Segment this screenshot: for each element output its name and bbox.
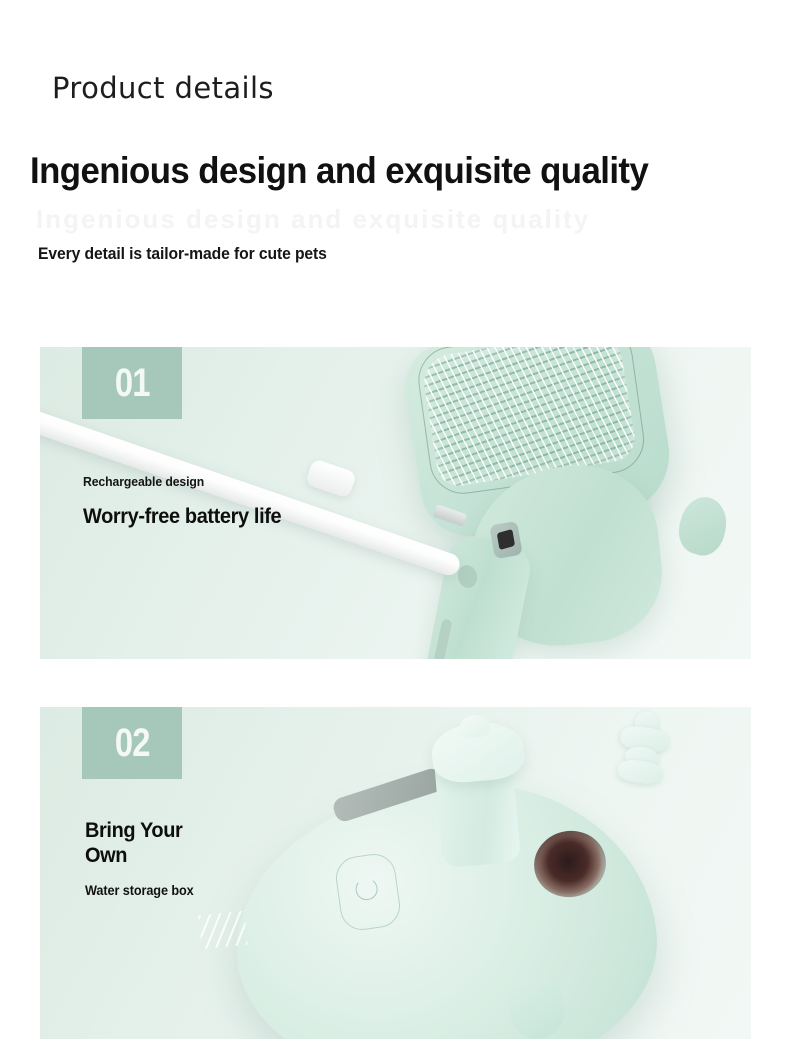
cable-connector-tip: [433, 504, 467, 527]
brush-handle-groove: [434, 618, 453, 659]
tank-vent-slot: [331, 766, 445, 823]
feature-card-01[interactable]: 01 Rechargeable design Worry-free batter…: [40, 347, 751, 659]
plug-ring-4: [617, 758, 664, 786]
rubber-stopper-plug: [606, 707, 678, 806]
card-text-block-02: Bring Your Own Water storage box: [85, 819, 201, 898]
tank-foot: [508, 977, 566, 1039]
water-tank-body: [224, 767, 669, 1039]
plug-ring-3: [624, 745, 660, 770]
usb-c-charging-port: [489, 521, 522, 559]
brush-pad-outline: [414, 347, 648, 498]
brush-side-ear: [673, 492, 733, 560]
card-number-badge-02: 02: [82, 707, 182, 779]
card-title: Worry-free battery life: [83, 505, 281, 530]
card-kicker: Rechargeable design: [83, 475, 279, 490]
power-button-icon: [333, 851, 403, 933]
card-number-badge-01: 01: [82, 347, 182, 419]
brush-indicator-hole: [456, 563, 479, 589]
brush-bristle-pad: [420, 347, 638, 489]
feature-card-02[interactable]: 02 Bring Your Own Water storage box: [40, 707, 751, 1039]
page-subtitle: Every detail is tailor-made for cute pet…: [38, 246, 327, 263]
card-number-text: 01: [115, 363, 150, 403]
tank-fill-opening: [528, 824, 612, 904]
cable-collar: [305, 458, 357, 499]
tank-side-grooves: [198, 911, 247, 950]
card-title: Bring Your Own: [85, 819, 195, 869]
plug-ring-2: [619, 724, 670, 754]
plug-ring-1: [633, 710, 660, 739]
tank-heart-cap: [430, 719, 527, 785]
tank-neck: [433, 742, 521, 868]
brush-head-shell: [398, 347, 678, 544]
card-text-block-01: Rechargeable design Worry-free battery l…: [83, 475, 292, 530]
card-subtitle: Water storage box: [85, 883, 194, 898]
brush-body: [461, 458, 669, 655]
brush-handle: [414, 533, 535, 659]
card-number-text: 02: [115, 723, 150, 763]
page-eyebrow: Product details: [52, 74, 274, 103]
product-details-page: Ingenious design and exquisite quality P…: [0, 0, 790, 1039]
page-title: Ingenious design and exquisite quality: [30, 152, 648, 189]
